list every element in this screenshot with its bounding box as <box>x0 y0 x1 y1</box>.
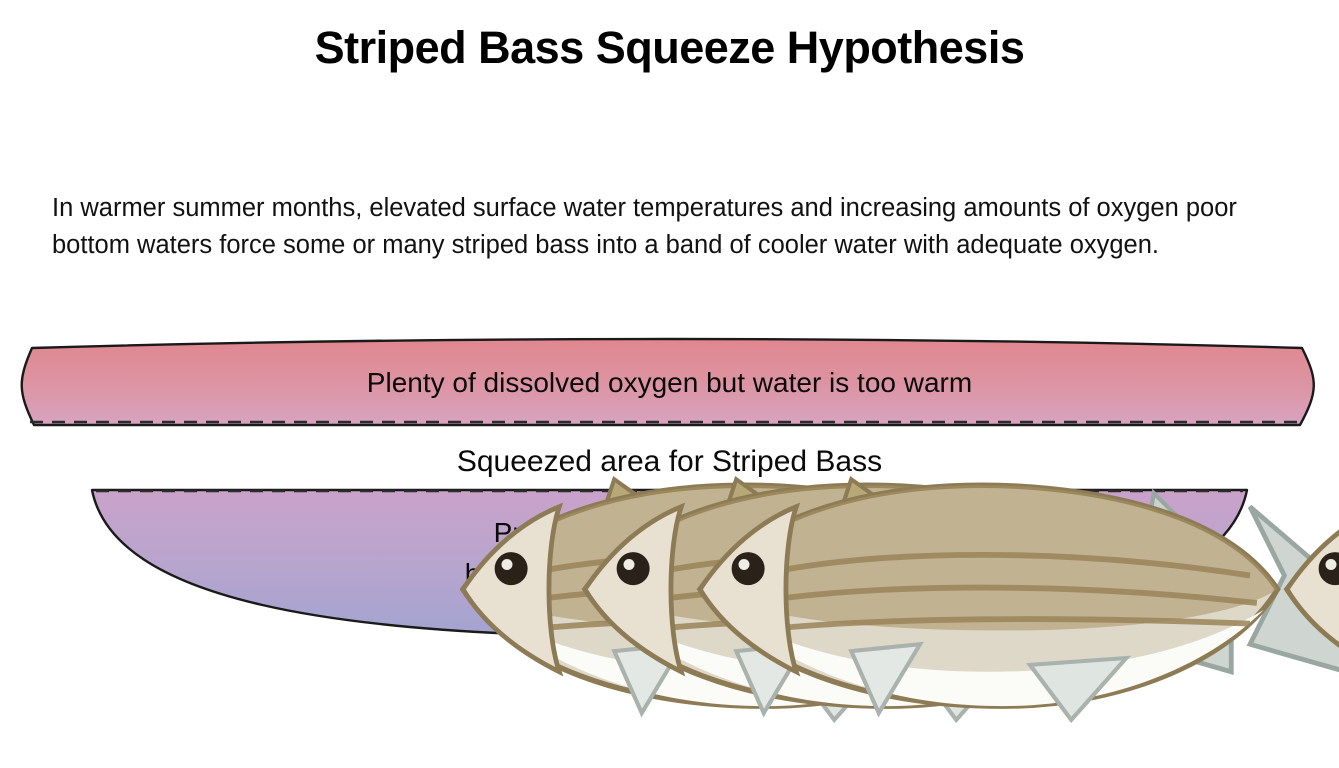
striped-bass-fish-icon <box>96 438 200 486</box>
page-title: Striped Bass Squeeze Hypothesis <box>0 22 1339 74</box>
striped-bass-fish-icon <box>218 438 322 486</box>
striped-bass-fish-icon <box>1157 438 1261 486</box>
fish-glyph <box>1157 438 1339 768</box>
striped-bass-fish-icon <box>1042 438 1146 486</box>
intro-paragraph: In warmer summer months, elevated surfac… <box>52 190 1297 264</box>
warm-water-band <box>22 339 1314 425</box>
striped-bass-fish-icon <box>920 438 1024 486</box>
striped-bass-squeeze-diagram: Plenty of dissolved oxygen but water is … <box>0 330 1339 660</box>
striped-bass-fish-icon <box>333 438 437 486</box>
